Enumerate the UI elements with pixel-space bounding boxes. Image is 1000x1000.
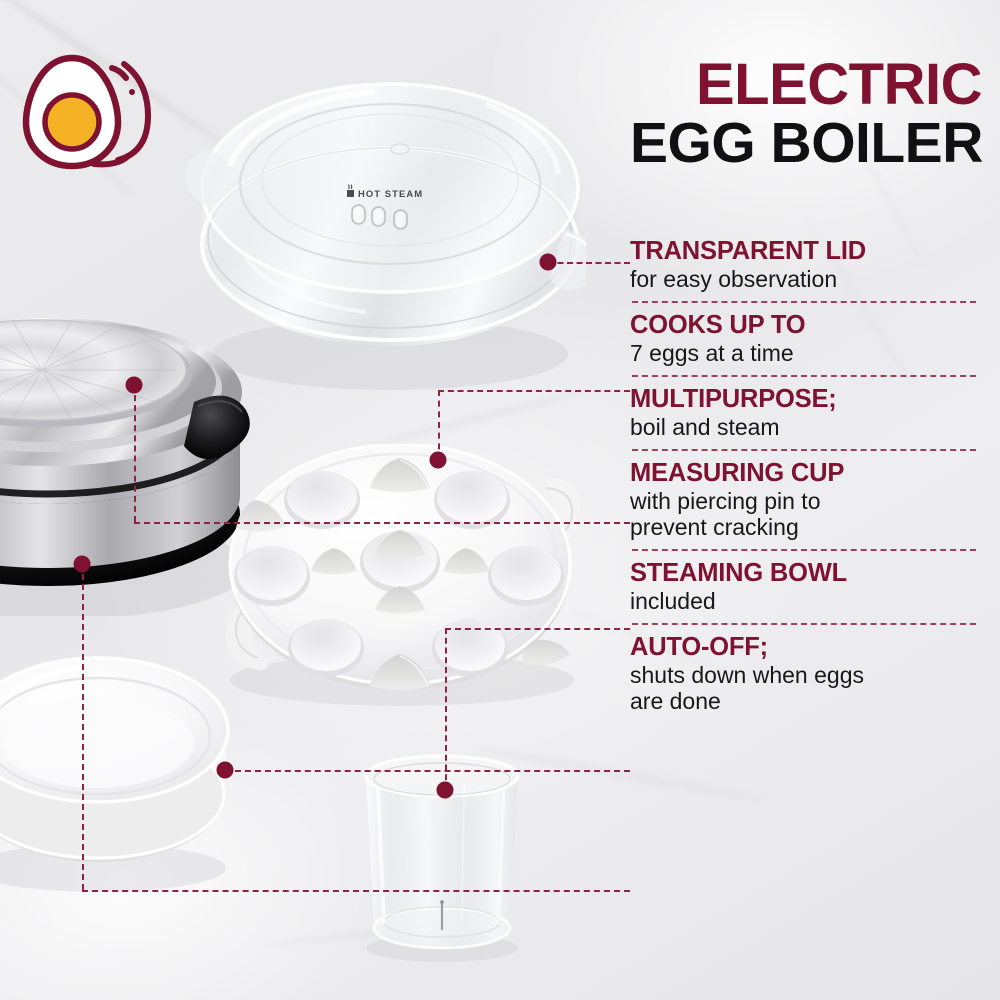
feature-description: boil and steam <box>630 414 982 440</box>
feature-separator <box>632 301 976 303</box>
egg-tray <box>214 444 586 714</box>
transparent-lid: HOT STEAM <box>186 62 586 392</box>
feature-separator <box>632 549 976 551</box>
boiled-egg-icon <box>22 52 154 176</box>
feature-description: included <box>630 588 982 614</box>
feature-description: 7 eggs at a time <box>630 340 982 366</box>
feature-steaming-bowl: STEAMING BOWL included <box>630 560 982 614</box>
feature-description: for easy observation <box>630 266 982 292</box>
feature-measuring-cup: MEASURING CUP with piercing pin topreven… <box>630 460 982 540</box>
feature-separator <box>632 623 976 625</box>
feature-heading: TRANSPARENT LID <box>630 238 982 265</box>
measuring-cup <box>352 752 532 962</box>
feature-separator <box>632 449 976 451</box>
feature-heading: COOKS UP TO <box>630 312 982 339</box>
feature-description: shuts down when eggsare done <box>630 662 982 714</box>
title-line-1: ELECTRIC <box>630 58 982 111</box>
steaming-bowl <box>0 600 248 900</box>
page-title: ELECTRIC EGG BOILER <box>630 58 982 170</box>
feature-heading: AUTO-OFF; <box>630 634 982 661</box>
feature-heading: MEASURING CUP <box>630 460 982 487</box>
feature-cooks-up-to: COOKS UP TO 7 eggs at a time <box>630 312 982 366</box>
hot-steam-label: HOT STEAM <box>358 188 423 199</box>
feature-description: with piercing pin toprevent cracking <box>630 488 982 540</box>
feature-transparent-lid: TRANSPARENT LID for easy observation <box>630 238 982 292</box>
feature-heading: STEAMING BOWL <box>630 560 982 587</box>
title-line-2: EGG BOILER <box>630 117 982 169</box>
egg-yolk <box>45 95 99 149</box>
feature-heading: MULTIPURPOSE; <box>630 386 982 413</box>
feature-separator <box>632 375 976 377</box>
feature-list: TRANSPARENT LID for easy observation COO… <box>630 238 982 714</box>
feature-multipurpose: MULTIPURPOSE; boil and steam <box>630 386 982 440</box>
feature-auto-off: AUTO-OFF; shuts down when eggsare done <box>630 634 982 714</box>
